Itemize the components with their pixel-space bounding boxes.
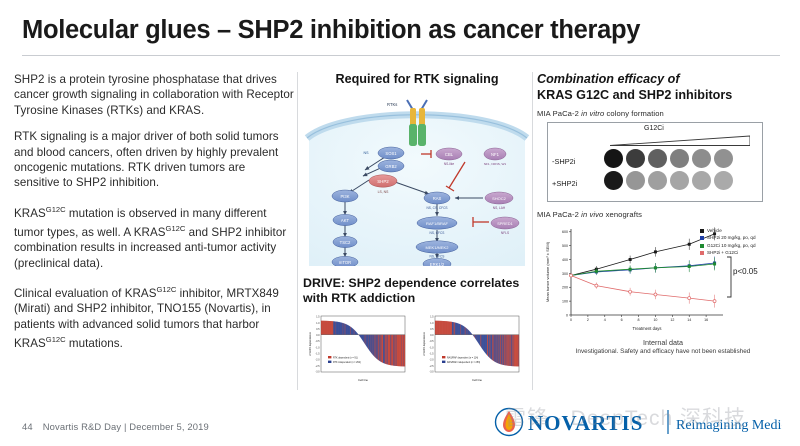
drive-waterfall-charts: 1.51.0 0.50.0 -0.5-1.0 -1.5-2.0 -2.5-3.0… [303, 312, 531, 386]
xeno-ytick: 0 [566, 313, 568, 317]
svg-text:MEK1/MEK2: MEK1/MEK2 [426, 245, 450, 250]
svg-text:-1.0: -1.0 [316, 347, 321, 349]
xeno-data-point [654, 266, 657, 269]
gradient-wedge-icon [610, 135, 750, 147]
wf2-ylabel: d SHP2 dependence [422, 331, 426, 355]
svg-text:NF1: NF1 [491, 152, 500, 157]
xeno-ytick: 100 [562, 300, 568, 304]
wf1-legend-2: RTK independent (n = 292) [333, 361, 361, 364]
colony-well [670, 149, 689, 168]
slide-footer: 44Novartis R&D Day | December 5, 2019 [22, 421, 209, 432]
colony-caption: MIA PaCa-2 in vitro colony formation [537, 109, 789, 118]
legend-label: Vehicle [707, 228, 722, 233]
wf2-legend-1: RAS/RAF dependent (n = 114) [447, 356, 478, 359]
xenograft-legend: VehicleSHP2i 20 mg/kg, po, qdG12Ci 10 mg… [700, 227, 756, 257]
middle-column: Required for RTK signaling [303, 72, 531, 402]
colony-well [714, 149, 733, 168]
xeno-data-point [629, 258, 632, 261]
colony-well [714, 171, 733, 190]
xeno-ylabel: Mean tumor volume (mm³ ± SEM) [545, 241, 550, 302]
svg-text:-1.0: -1.0 [430, 347, 435, 349]
page-title: Molecular glues – SHP2 inhibition as can… [22, 8, 782, 52]
svg-text:AKT: AKT [341, 218, 350, 223]
svg-text:1.5: 1.5 [316, 316, 320, 318]
colony-well [670, 171, 689, 190]
xeno-series-line [571, 263, 715, 276]
colony-cap-2: colony formation [604, 109, 664, 118]
svg-text:0.0: 0.0 [316, 335, 320, 337]
colony-well [626, 171, 645, 190]
colony-row-label-minus: -SHP2i [552, 157, 575, 166]
xeno-xtick: 14 [687, 318, 691, 322]
colony-well [626, 149, 645, 168]
colony-well [648, 149, 667, 168]
colony-well-row-minus [604, 149, 736, 173]
xeno-xtick: 10 [653, 318, 657, 322]
paragraph-1: SHP2 is a protein tyrosine phosphatase t… [14, 72, 294, 118]
xeno-ytick: 200 [562, 286, 568, 290]
svg-text:SHOC2: SHOC2 [492, 196, 507, 201]
footnote-line-2: Investigational. Safety and efficacy hav… [537, 347, 789, 356]
column-divider-right [532, 72, 533, 390]
left-text-column: SHP2 is a protein tyrosine phosphatase t… [14, 72, 294, 363]
p3-part1: KRAS [14, 207, 46, 220]
novartis-wordmark: NOVARTIS [528, 411, 643, 435]
xeno-legend-item: SHP2i 20 mg/kg, po, qd [700, 234, 756, 241]
legend-swatch [700, 251, 704, 255]
pathway-label-rtks: RTKs [387, 102, 397, 107]
svg-text:NS-like: NS-like [444, 162, 454, 166]
xeno-ytick: 300 [562, 272, 568, 276]
xeno-data-point [629, 290, 632, 293]
legend-label: SHP2i + G12Ci [707, 250, 738, 255]
xeno-xtick: 4 [604, 318, 606, 322]
column-divider-left [297, 72, 298, 390]
colony-well [604, 149, 623, 168]
xeno-data-point [595, 270, 598, 273]
xenograft-caption: MIA PaCa-2 in vivo xenografts [537, 210, 789, 219]
svg-text:GRB2: GRB2 [385, 164, 397, 169]
slide-root: Molecular glues – SHP2 inhibition as can… [0, 0, 800, 446]
colony-well-row-plus [604, 171, 736, 195]
xeno-cap-1: MIA PaCa-2 [537, 210, 581, 219]
wf1-legend-1: RTK dependent (n = 91) [333, 356, 358, 359]
page-number: 44 [22, 421, 33, 432]
xeno-ytick: 400 [562, 258, 568, 262]
xeno-xlabel: Treatment days [633, 326, 662, 331]
svg-text:SHP2: SHP2 [377, 179, 389, 184]
xeno-data-point [713, 300, 716, 303]
legend-swatch [700, 229, 704, 233]
p4-sup1: G12C [156, 285, 176, 294]
p4-sup2: G12C [46, 335, 66, 344]
svg-text:0.5: 0.5 [316, 328, 320, 330]
drive-panel-heading: DRIVE: SHP2 dependence correlates with R… [303, 276, 531, 306]
xeno-data-point [688, 243, 691, 246]
xenograft-chart: 0100200300400500600 0246810121416 Mean t… [537, 223, 789, 335]
xeno-legend-item: SHP2i + G12Ci [700, 249, 756, 256]
legend-label: G12Ci 10 mg/kg, po, qd [707, 243, 756, 248]
xeno-data-point [713, 262, 716, 265]
wf1-xlabel: Cell line [358, 378, 368, 382]
svg-text:1.0: 1.0 [316, 322, 320, 324]
xeno-xtick: 16 [704, 318, 708, 322]
svg-text:PI3K: PI3K [340, 194, 349, 199]
p4-part1: Clinical evaluation of KRAS [14, 287, 156, 300]
svg-text:NF1, NFNS, W1: NF1, NFNS, W1 [484, 162, 507, 166]
rtk-panel-heading: Required for RTK signaling [303, 72, 531, 88]
svg-text:-2.0: -2.0 [316, 359, 321, 361]
svg-text:SPRED1: SPRED1 [497, 221, 513, 226]
xeno-legend-item: Vehicle [700, 227, 756, 234]
legend-swatch [700, 244, 704, 248]
svg-text:LS, NS: LS, NS [378, 190, 389, 194]
colony-well [692, 171, 711, 190]
svg-text:TSC2: TSC2 [340, 240, 351, 245]
colony-well [648, 171, 667, 190]
rtk-pathway-diagram: RTKs [303, 94, 531, 266]
xeno-xtick: 6 [621, 318, 623, 322]
combination-panel-heading: Combination efficacy of KRAS G12C and SH… [537, 72, 789, 103]
paragraph-4: Clinical evaluation of KRASG12C inhibito… [14, 282, 294, 351]
xeno-ytick: 500 [562, 244, 568, 248]
xeno-data-point [654, 250, 657, 253]
footer-text: Novartis R&D Day | December 5, 2019 [43, 421, 209, 432]
novartis-tagline: Reimagining Medicine [676, 418, 782, 433]
pathway-svg: RTKs [303, 94, 531, 266]
title-divider [22, 55, 780, 56]
svg-text:1.5: 1.5 [430, 316, 434, 318]
combo-head-line2: KRAS G12C and SHP2 inhibitors [537, 88, 732, 102]
xeno-data-point [570, 274, 573, 277]
g12ci-gradient-label: G12Ci [644, 125, 664, 132]
svg-text:-1.5: -1.5 [430, 353, 435, 355]
svg-text:RAS: RAS [433, 196, 442, 201]
xeno-data-point [629, 268, 632, 271]
svg-text:-2.5: -2.5 [316, 365, 321, 367]
xeno-series-line [571, 234, 715, 276]
svg-text:NS, LAH: NS, LAH [493, 206, 506, 210]
novartis-logo: NOVARTIS Reimagining Medicine [492, 404, 782, 438]
legend-swatch [700, 236, 704, 240]
colony-cap-1: MIA PaCa-2 [537, 109, 581, 118]
waterfall-chart-rasraf: 1.51.0 0.50.0 -0.5-1.0 -1.5-2.0 -2.5-3.0… [417, 312, 525, 386]
colony-formation-assay: G12Ci -SHP2i +SHP2i [547, 122, 763, 202]
pathway-tag-ns: NS [364, 151, 370, 155]
svg-text:-1.5: -1.5 [316, 353, 321, 355]
svg-text:NFLS: NFLS [501, 231, 509, 235]
xeno-data-point [595, 284, 598, 287]
paragraph-3: KRASG12C mutation is observed in many di… [14, 202, 294, 271]
xeno-data-point [688, 265, 691, 268]
xeno-data-point [654, 293, 657, 296]
xeno-xtick: 2 [587, 318, 589, 322]
novartis-flame-icon [496, 409, 523, 436]
svg-text:-2.0: -2.0 [430, 359, 435, 361]
pvalue-annotation: p<0.05 [733, 267, 758, 276]
svg-text:mTOR: mTOR [339, 260, 351, 265]
legend-label: SHP2i 20 mg/kg, po, qd [707, 235, 756, 240]
svg-text:SOS1: SOS1 [385, 151, 397, 156]
xeno-cap-2: xenografts [603, 210, 642, 219]
wf2-legend-2: RAS/RAF independent (n = 253) [447, 361, 480, 364]
wf2-xlabel: Cell line [472, 378, 482, 382]
right-column: Combination efficacy of KRAS G12C and SH… [537, 72, 789, 402]
title-bar: Molecular glues – SHP2 inhibition as can… [22, 8, 782, 52]
footnote-line-1: Internal data [537, 338, 789, 347]
panel-footnote: Internal data Investigational. Safety an… [537, 338, 789, 356]
svg-text:-2.5: -2.5 [430, 365, 435, 367]
xeno-ytick: 600 [562, 230, 568, 234]
wf1-ylabel: d SHP2 dependence [308, 331, 312, 355]
svg-text:0.5: 0.5 [430, 328, 434, 330]
colony-row-label-plus: +SHP2i [552, 179, 577, 188]
colony-well [604, 171, 623, 190]
paragraph-2: RTK signaling is a major driver of both … [14, 129, 294, 191]
svg-text:RAF1/BRAF: RAF1/BRAF [426, 221, 449, 226]
p4-part3: mutations. [66, 337, 123, 350]
xeno-xtick: 12 [670, 318, 674, 322]
xeno-cap-italic: in vivo [581, 210, 603, 219]
xeno-legend-item: G12Ci 10 mg/kg, po, qd [700, 242, 756, 249]
colony-cap-italic: in vitro [581, 109, 604, 118]
svg-text:-0.5: -0.5 [430, 341, 435, 343]
svg-text:NS, CS, CFCS: NS, CS, CFCS [426, 206, 447, 210]
svg-text:ERK1/2: ERK1/2 [430, 262, 445, 266]
svg-text:0.0: 0.0 [430, 335, 434, 337]
svg-text:NS, CFCS: NS, CFCS [430, 254, 445, 258]
combo-head-line1: Combination efficacy of [537, 72, 680, 86]
svg-text:-3.0: -3.0 [316, 371, 321, 373]
svg-text:1.0: 1.0 [430, 322, 434, 324]
waterfall-chart-rtk: 1.51.0 0.50.0 -0.5-1.0 -1.5-2.0 -2.5-3.0… [303, 312, 411, 386]
svg-text:CBL: CBL [445, 152, 454, 157]
p3-sup2: G12C [166, 224, 186, 233]
colony-well [692, 149, 711, 168]
significance-bracket [727, 257, 731, 297]
xeno-data-point [688, 297, 691, 300]
p3-sup1: G12C [46, 205, 66, 214]
xeno-xtick: 0 [570, 318, 572, 322]
xeno-series-line [571, 276, 715, 302]
svg-text:-3.0: -3.0 [430, 371, 435, 373]
svg-text:NS, CFCS: NS, CFCS [430, 231, 445, 235]
svg-text:-0.5: -0.5 [316, 341, 321, 343]
xeno-xtick: 8 [638, 318, 640, 322]
